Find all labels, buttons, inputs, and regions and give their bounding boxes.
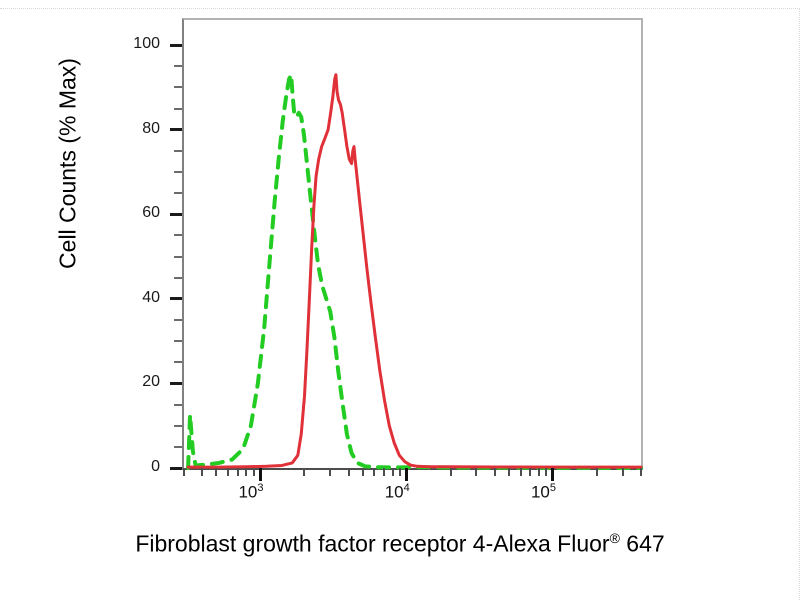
x-tick-minor xyxy=(622,468,624,476)
x-tick-minor xyxy=(538,468,540,476)
y-tick-minor xyxy=(174,340,182,342)
x-tick-minor xyxy=(520,468,522,476)
x-tick-exponent: 4 xyxy=(404,482,410,494)
y-tick-major xyxy=(170,382,182,385)
x-axis-title-main: Fibroblast growth factor receptor 4-Alex… xyxy=(135,531,609,557)
x-axis-title-tail: 647 xyxy=(626,531,664,557)
y-tick-label: 20 xyxy=(92,373,160,391)
x-tick-label: 104 xyxy=(385,482,410,503)
y-tick-minor xyxy=(174,108,182,110)
x-tick-base: 10 xyxy=(385,483,404,502)
x-tick-minor xyxy=(596,468,598,476)
curve-isotype-control xyxy=(188,75,641,468)
x-tick-label: 103 xyxy=(238,482,263,503)
y-tick-minor xyxy=(174,234,182,236)
x-tick-minor xyxy=(373,468,375,476)
histogram-curves xyxy=(182,18,643,470)
y-tick-label: 60 xyxy=(92,204,160,222)
y-tick-label: 80 xyxy=(92,120,160,138)
x-tick-major xyxy=(405,468,408,481)
x-tick-minor xyxy=(529,468,531,476)
x-tick-major xyxy=(551,468,554,481)
x-tick-base: 10 xyxy=(531,483,550,502)
y-tick-minor xyxy=(174,86,182,88)
x-tick-minor xyxy=(450,468,452,476)
y-tick-minor xyxy=(174,171,182,173)
x-tick-minor xyxy=(508,468,510,476)
y-tick-major xyxy=(170,213,182,216)
y-tick-minor xyxy=(174,425,182,427)
y-tick-minor xyxy=(174,446,182,448)
y-tick-minor xyxy=(174,192,182,194)
y-tick-major xyxy=(170,44,182,47)
x-tick-minor xyxy=(399,468,401,476)
y-tick-minor xyxy=(174,65,182,67)
x-tick-minor xyxy=(329,468,331,476)
x-tick-base: 10 xyxy=(238,483,257,502)
y-tick-label: 0 xyxy=(92,458,160,476)
y-tick-minor xyxy=(174,404,182,406)
y-axis-title: Cell Counts (% Max) xyxy=(55,34,82,294)
y-tick-minor xyxy=(174,319,182,321)
x-tick-minor xyxy=(348,468,350,476)
x-tick-minor xyxy=(237,468,239,476)
x-tick-minor xyxy=(253,468,255,476)
x-tick-exponent: 3 xyxy=(257,482,263,494)
x-tick-minor xyxy=(183,468,185,476)
x-tick-minor xyxy=(383,468,385,476)
x-tick-minor xyxy=(392,468,394,476)
y-tick-major xyxy=(170,467,182,470)
flow-cytometry-histogram-figure: 020406080100 103104105 Cell Counts (% Ma… xyxy=(0,0,800,600)
y-tick-major xyxy=(170,297,182,300)
x-tick-minor xyxy=(362,468,364,476)
curve-sample-stained xyxy=(188,75,641,467)
x-axis-title: Fibroblast growth factor receptor 4-Alex… xyxy=(40,522,760,561)
y-tick-minor xyxy=(174,361,182,363)
x-tick-minor xyxy=(201,468,203,476)
y-tick-label: 40 xyxy=(92,289,160,307)
x-tick-label: 105 xyxy=(531,482,556,503)
x-tick-minor xyxy=(640,468,642,476)
y-tick-major xyxy=(170,128,182,131)
x-tick-minor xyxy=(494,468,496,476)
y-tick-minor xyxy=(174,277,182,279)
x-tick-minor xyxy=(215,468,217,476)
x-tick-major xyxy=(259,468,262,481)
x-tick-exponent: 5 xyxy=(550,482,556,494)
y-tick-minor xyxy=(174,150,182,152)
x-tick-minor xyxy=(245,468,247,476)
x-tick-minor xyxy=(227,468,229,476)
registered-trademark-icon: ® xyxy=(610,530,620,546)
y-tick-label: 100 xyxy=(92,35,160,53)
y-tick-minor xyxy=(174,256,182,258)
x-tick-minor xyxy=(545,468,547,476)
x-tick-minor xyxy=(303,468,305,476)
x-tick-minor xyxy=(475,468,477,476)
